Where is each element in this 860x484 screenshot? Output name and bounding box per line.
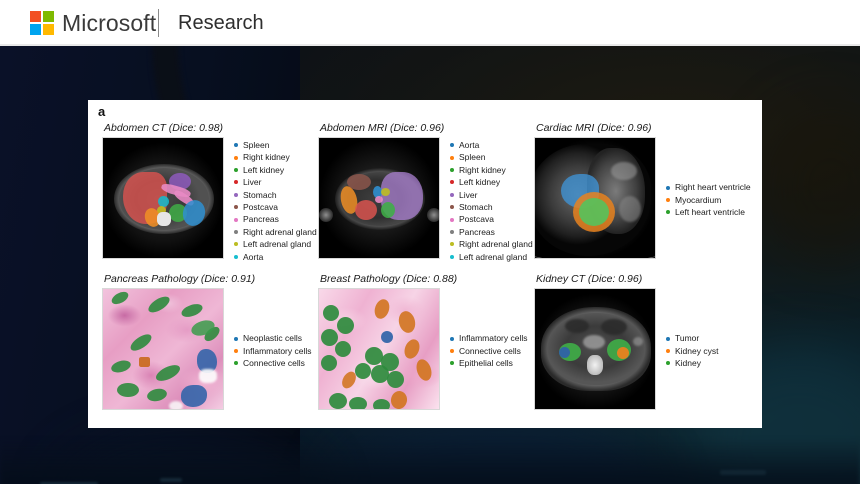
legend-label: Postcava (459, 213, 494, 225)
legend-label: Left adrenal gland (459, 251, 527, 263)
legend-label: Pancreas (243, 213, 279, 225)
legend-color-dot (234, 180, 238, 184)
legend-color-dot (450, 361, 454, 365)
figure-panel-abdomen-mri[interactable]: Abdomen MRI (Dice: 0.96) (318, 122, 540, 263)
legend-color-dot (450, 180, 454, 184)
legend-item: Kidney cyst (666, 345, 718, 357)
background-speck (720, 470, 766, 475)
legend-item: Left kidney (450, 176, 533, 188)
legend-color-dot (666, 186, 670, 190)
legend-color-dot (450, 230, 454, 234)
legend-item: Left adrenal gland (234, 238, 317, 250)
legend-label: Right adrenal gland (243, 226, 317, 238)
legend-item: Epithelial cells (450, 357, 528, 369)
legend-color-dot (666, 198, 670, 202)
legend-item: Postcava (450, 213, 533, 225)
legend-item: Postcava (234, 201, 317, 213)
legend-color-dot (234, 193, 238, 197)
legend-color-dot (234, 168, 238, 172)
panel-title: Kidney CT (Dice: 0.96) (536, 273, 756, 285)
logo-square-blue (30, 24, 41, 35)
legend-label: Neoplastic cells (243, 332, 302, 344)
legend-label: Spleen (459, 151, 485, 163)
legend-color-dot (450, 337, 454, 341)
legend-color-dot (234, 230, 238, 234)
panel-title: Abdomen MRI (Dice: 0.96) (320, 122, 540, 134)
logo-square-red (30, 11, 41, 22)
legend-item: Spleen (450, 151, 533, 163)
slide-header: Microsoft Research (0, 0, 860, 46)
legend-color-dot (450, 156, 454, 160)
panel-image-cardiac-mri[interactable] (534, 137, 656, 259)
legend-label: Stomach (459, 201, 493, 213)
figure-grid: Abdomen CT (Dice: 0.98) (88, 100, 762, 428)
legend-label: Stomach (243, 189, 277, 201)
legend-color-dot (666, 337, 670, 341)
legend-label: Kidney (675, 357, 701, 369)
panel-image-pancreas-pathology[interactable] (102, 288, 224, 410)
legend-color-dot (450, 349, 454, 353)
legend-label: Postcava (243, 201, 278, 213)
legend-item: Myocardium (666, 194, 751, 206)
legend-item: Connective cells (450, 345, 528, 357)
legend-label: Right kidney (243, 151, 290, 163)
legend-color-dot (666, 210, 670, 214)
legend-item: Right adrenal gland (450, 238, 533, 250)
legend-item: Inflammatory cells (234, 345, 312, 357)
legend-color-dot (666, 361, 670, 365)
background-speck (160, 478, 182, 482)
microsoft-logo-icon (30, 11, 54, 35)
legend-label: Left kidney (459, 176, 500, 188)
legend-color-dot (234, 143, 238, 147)
legend-color-dot (234, 242, 238, 246)
legend-item: Right kidney (450, 164, 533, 176)
legend-label: Pancreas (459, 226, 495, 238)
legend-color-dot (234, 337, 238, 341)
legend-item: Right kidney (234, 151, 317, 163)
legend-label: Aorta (243, 251, 263, 263)
panel-legend-cardiac-mri: Right heart ventricle Myocardium Left he… (666, 137, 751, 261)
header-divider (158, 9, 159, 37)
legend-label: Spleen (243, 139, 269, 151)
logo-square-green (43, 11, 54, 22)
figure-panel-cardiac-mri[interactable]: Cardiac MRI (Dice: 0.96) (534, 122, 756, 261)
legend-label: Myocardium (675, 194, 721, 206)
legend-item: Liver (450, 189, 533, 201)
legend-item: Neoplastic cells (234, 332, 312, 344)
legend-label: Connective cells (459, 345, 521, 357)
legend-label: Inflammatory cells (459, 332, 528, 344)
legend-item: Connective cells (234, 357, 312, 369)
panel-image-abdomen-ct[interactable] (102, 137, 224, 259)
legend-item: Left heart ventricle (666, 206, 751, 218)
legend-item: Left adrenal gland (450, 251, 533, 263)
legend-label: Left heart ventricle (675, 206, 745, 218)
legend-item: Tumor (666, 332, 718, 344)
legend-item: Kidney (666, 357, 718, 369)
legend-label: Left adrenal gland (243, 238, 311, 250)
legend-color-dot (234, 156, 238, 160)
panel-legend-pancreas-pathology: Neoplastic cells Inflammatory cells Conn… (234, 288, 312, 412)
legend-label: Tumor (675, 332, 699, 344)
legend-color-dot (450, 168, 454, 172)
legend-label: Liver (243, 176, 261, 188)
legend-item: Pancreas (450, 226, 533, 238)
legend-color-dot (234, 218, 238, 222)
legend-color-dot (450, 193, 454, 197)
legend-label: Epithelial cells (459, 357, 513, 369)
legend-label: Right adrenal gland (459, 238, 533, 250)
legend-color-dot (450, 205, 454, 209)
legend-color-dot (234, 361, 238, 365)
legend-label: Right kidney (459, 164, 506, 176)
figure-panel-abdomen-ct[interactable]: Abdomen CT (Dice: 0.98) (102, 122, 324, 263)
product-name: Research (178, 7, 264, 39)
brand-name: Microsoft (62, 6, 156, 40)
legend-item: Liver (234, 176, 317, 188)
legend-label: Connective cells (243, 357, 305, 369)
panel-legend-abdomen-mri: Aorta Spleen Right kidney Left kidney Li… (450, 137, 533, 263)
figure-panel-breast-pathology[interactable]: Breast Pathology (Dice: 0.88) (318, 273, 540, 412)
legend-item: Pancreas (234, 213, 317, 225)
panel-legend-kidney-ct: Tumor Kidney cyst Kidney (666, 288, 718, 412)
legend-item: Aorta (450, 139, 533, 151)
panel-title: Breast Pathology (Dice: 0.88) (320, 273, 540, 285)
logo-square-yellow (43, 24, 54, 35)
legend-item: Inflammatory cells (450, 332, 528, 344)
legend-color-dot (666, 349, 670, 353)
panel-image-abdomen-mri[interactable] (318, 137, 440, 259)
legend-item: Aorta (234, 251, 317, 263)
panel-image-breast-pathology[interactable] (318, 288, 440, 410)
legend-item: Right heart ventricle (666, 181, 751, 193)
legend-color-dot (234, 205, 238, 209)
legend-item: Left kidney (234, 164, 317, 176)
background-foreground-strip (0, 438, 860, 484)
legend-color-dot (450, 242, 454, 246)
panel-legend-breast-pathology: Inflammatory cells Connective cells Epit… (450, 288, 528, 412)
figure-panel-kidney-ct[interactable]: Kidney CT (Dice: 0.96) (534, 273, 756, 412)
legend-color-dot (450, 218, 454, 222)
panel-title: Cardiac MRI (Dice: 0.96) (536, 122, 756, 134)
legend-label: Right heart ventricle (675, 181, 751, 193)
legend-item: Stomach (234, 189, 317, 201)
panel-image-kidney-ct[interactable] (534, 288, 656, 410)
legend-label: Inflammatory cells (243, 345, 312, 357)
presentation-slide: Microsoft Research a Abdomen CT (Dice: 0… (0, 0, 860, 484)
legend-color-dot (450, 255, 454, 259)
figure-panel-pancreas-pathology[interactable]: Pancreas Pathology (Dice: 0.91) (102, 273, 324, 412)
panel-title: Pancreas Pathology (Dice: 0.91) (104, 273, 324, 285)
panel-legend-abdomen-ct: Spleen Right kidney Left kidney Liver St… (234, 137, 317, 263)
legend-color-dot (234, 255, 238, 259)
legend-item: Right adrenal gland (234, 226, 317, 238)
legend-item: Spleen (234, 139, 317, 151)
legend-color-dot (450, 143, 454, 147)
legend-item: Stomach (450, 201, 533, 213)
legend-label: Kidney cyst (675, 345, 718, 357)
legend-label: Left kidney (243, 164, 284, 176)
figure-card: a Abdomen CT (Dice: 0.98) (88, 100, 762, 428)
panel-title: Abdomen CT (Dice: 0.98) (104, 122, 324, 134)
header-bottom-rule (0, 44, 860, 46)
legend-color-dot (234, 349, 238, 353)
legend-label: Liver (459, 189, 477, 201)
legend-label: Aorta (459, 139, 479, 151)
